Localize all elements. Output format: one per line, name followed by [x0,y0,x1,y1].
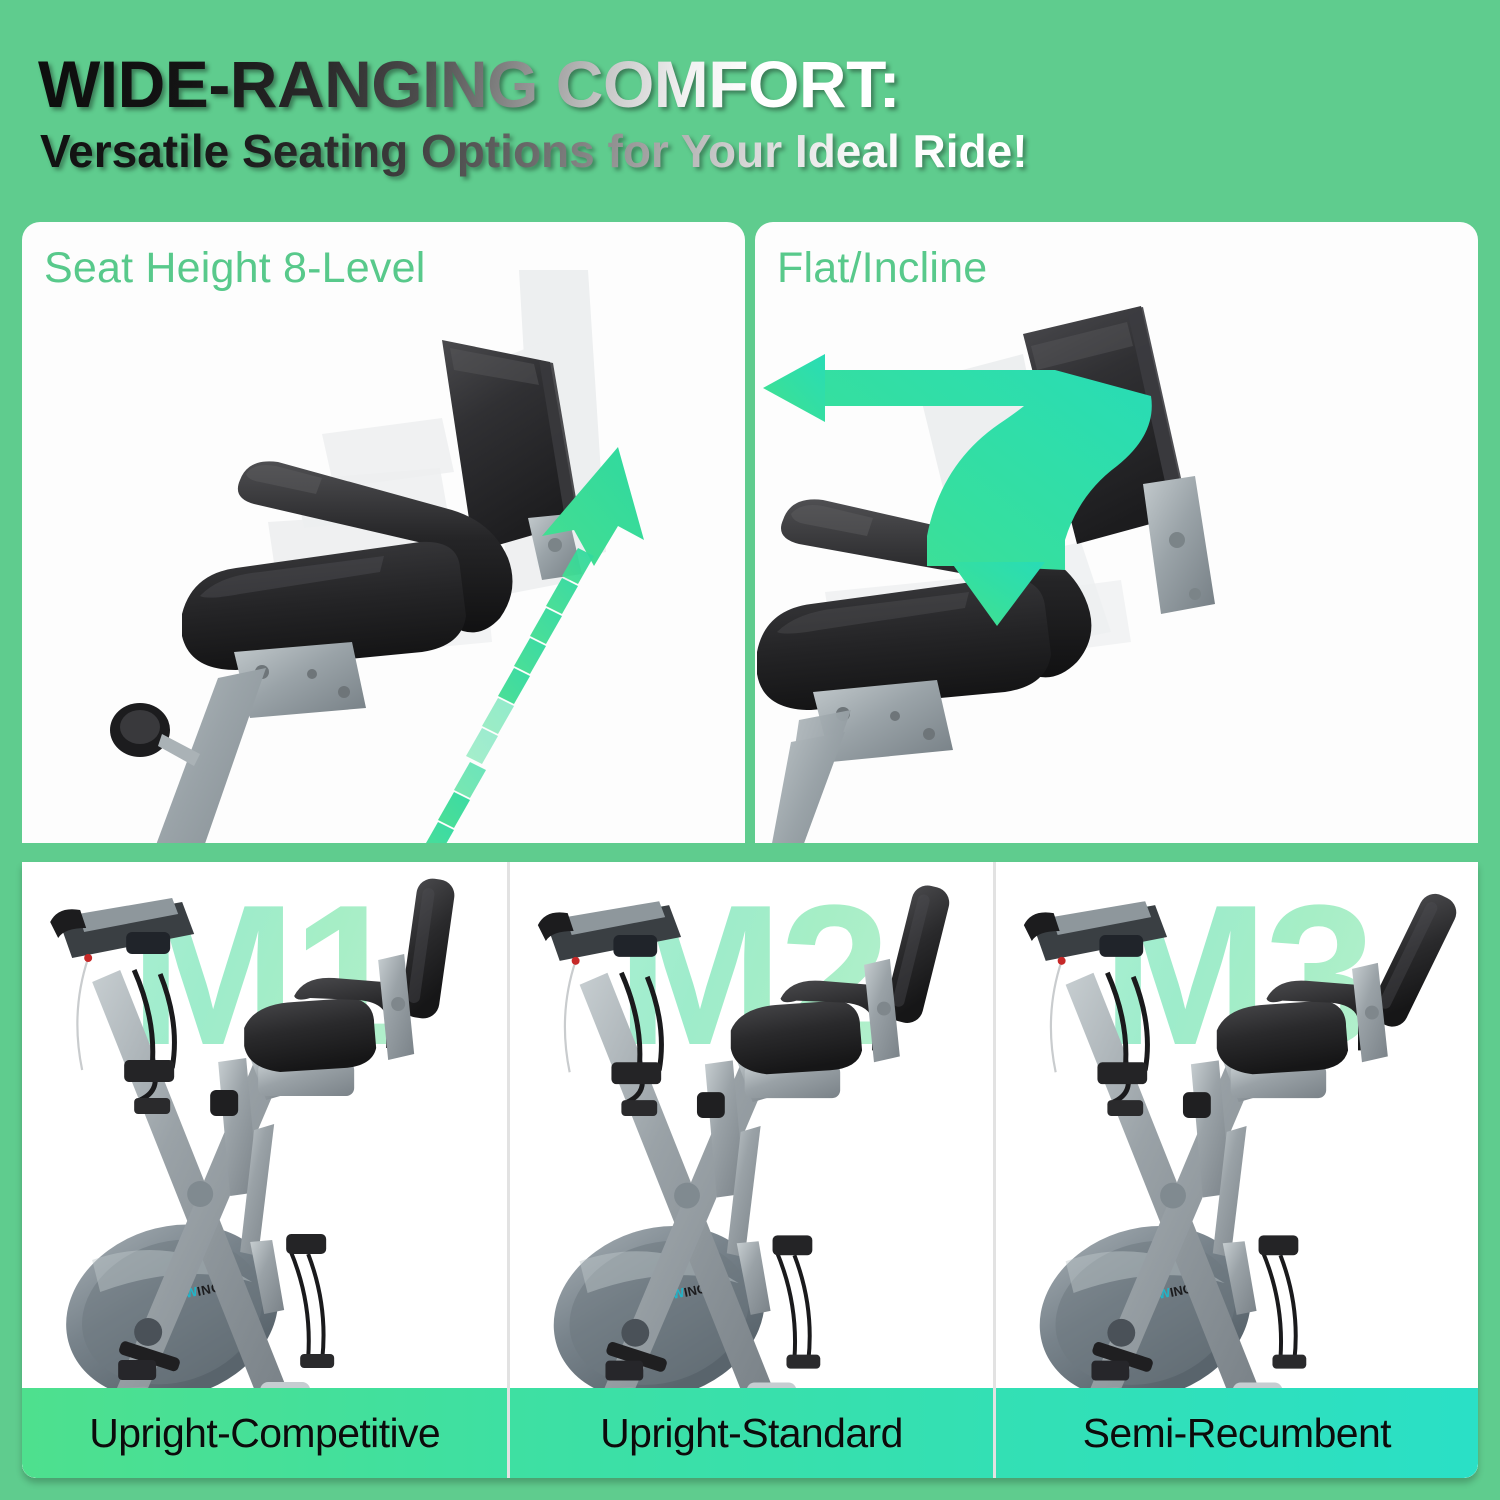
lower-bands-m1 [290,1250,323,1360]
mode-caption-m1: Upright-Competitive [89,1410,440,1457]
mode-caption-band-m2: Upright-Standard [510,1388,992,1478]
bike-illustration-m1: BAR W ING [22,862,507,1478]
page-title: WIDE-RANGING COMFORT: [38,46,900,122]
bike-illustration-m2: BAR W ING [510,862,992,1478]
sensor-cable-m2 [565,961,576,1072]
frame-tube-2 [755,710,851,843]
mode-caption-band-m3: Semi-Recumbent [996,1388,1478,1478]
panel-seat-height[interactable]: Seat Height 8-Level [22,222,745,843]
seat-height-illustration [22,222,745,843]
panel-flat-incline[interactable]: Flat/Incline [755,222,1478,843]
console-handlebar-m2 [538,901,681,961]
page-subtitle: Versatile Seating Options for Your Ideal… [40,124,1028,178]
mode-caption-m2: Upright-Standard [600,1410,903,1457]
bike-illustration-m3: BAR W ING [996,862,1478,1478]
panel-flat-incline-label: Flat/Incline [777,244,987,293]
lower-bands-m2 [777,1251,810,1360]
seat-assembly-m3 [1216,1001,1347,1102]
console-handlebar-m3 [1024,901,1167,961]
mode-cell-m1[interactable]: M1 [22,862,507,1478]
tension-knob-m2 [697,1092,725,1118]
mode-gallery-row: M1 [22,862,1478,1478]
tension-knob-m3 [1183,1092,1211,1118]
adjustment-knob [110,703,200,766]
mode-cell-m3[interactable]: M3 [993,862,1478,1478]
seat-assembly-m1 [244,998,376,1100]
lower-bands-m3 [1262,1251,1295,1360]
console-handlebar-m1 [50,898,194,958]
feature-panel-row: Seat Height 8-Level [22,222,1478,843]
seat-assembly-m2 [731,1001,862,1102]
mode-caption-m3: Semi-Recumbent [1083,1410,1391,1457]
sensor-cable-m3 [1051,961,1062,1072]
backrest-post-m3 [1352,963,1388,1062]
flat-incline-illustration [755,222,1478,843]
x-hinge-m2 [674,1183,700,1209]
panel-seat-height-label: Seat Height 8-Level [44,244,425,293]
backrest-bracket [1143,476,1215,614]
header-banner: WIDE-RANGING COMFORT: Versatile Seating … [0,0,1500,205]
mode-cell-m2[interactable]: M2 [507,862,992,1478]
tension-knob-m1 [210,1090,238,1116]
x-hinge-m3 [1160,1183,1186,1209]
x-hinge-m1 [187,1181,213,1207]
sensor-cable-m1 [77,958,88,1070]
mode-caption-band-m1: Upright-Competitive [22,1388,507,1478]
